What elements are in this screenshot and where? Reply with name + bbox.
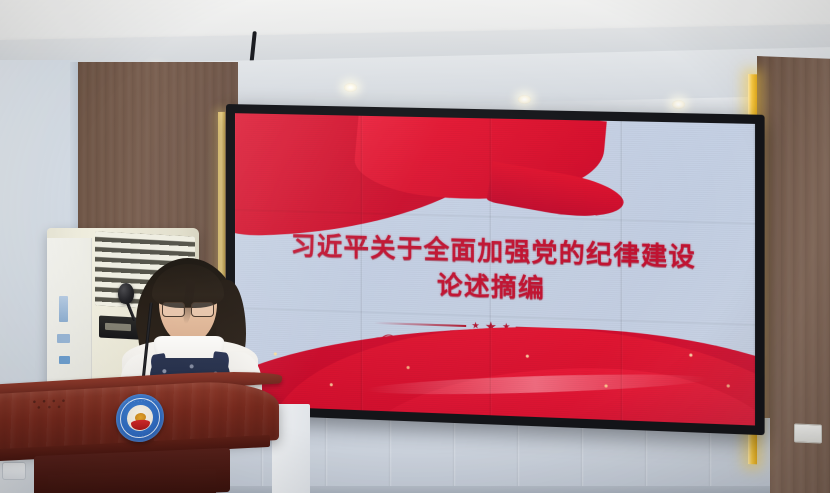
downlight-icon: [672, 100, 685, 109]
eyeglass-lens-left: [162, 302, 185, 317]
ac-sticker: [59, 296, 68, 322]
lectern: · · · · · · · · · · · · · · · · ·: [0, 376, 290, 493]
eyeglass-lens-right: [191, 302, 214, 317]
sparkle-particles: [235, 295, 755, 425]
wall-switch-plate[interactable]: [794, 423, 822, 443]
downlight-icon: [518, 95, 531, 104]
ac-sticker: [57, 334, 70, 343]
presentation-slide: 习近平关于全面加强党的纪律建设 论述摘编 ★ ★ ★: [235, 113, 755, 425]
lecture-photo-scene: 习近平关于全面加强党的纪律建设 论述摘编 ★ ★ ★: [0, 0, 830, 493]
lectern-speaker-holes: [30, 397, 74, 413]
eyeglass-bridge: [183, 307, 193, 308]
eyeglasses: [162, 302, 214, 315]
led-display-screen[interactable]: 习近平关于全面加强党的纪律建设 论述摘编 ★ ★ ★: [226, 104, 765, 435]
screen-surface: 习近平关于全面加强党的纪律建设 论述摘编 ★ ★ ★: [235, 113, 755, 425]
ac-sticker: [59, 356, 70, 364]
microphone-icon[interactable]: [118, 283, 134, 304]
downlight-icon: [344, 83, 357, 92]
emblem-ring-text-bottom: · · · · · · ·: [131, 434, 149, 439]
